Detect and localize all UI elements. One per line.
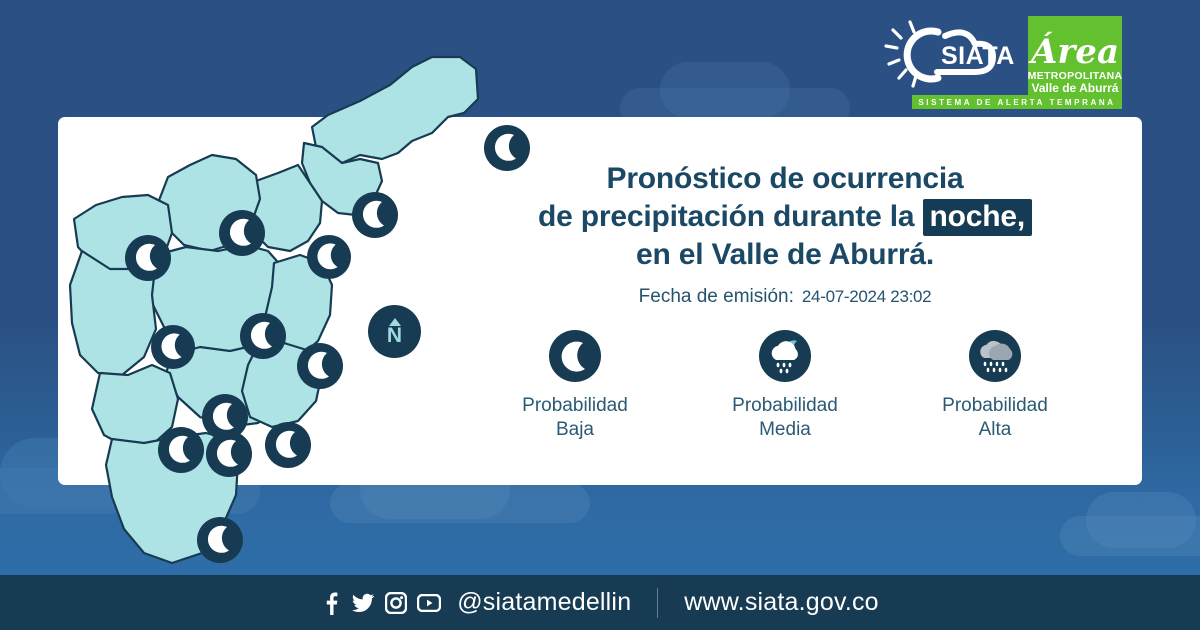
siata-logo: SIATA [883, 16, 1018, 94]
compass-label: N [387, 326, 402, 346]
legend-item-media: Probabilidad Media [700, 330, 870, 443]
title-line-2: de precipitación durante la noche, [470, 198, 1100, 236]
title-block: Pronóstico de ocurrencia de precipitació… [470, 160, 1100, 308]
municipality-barbosa [312, 57, 478, 163]
footer-bar: @siatamedellin www.siata.gov.co [0, 575, 1200, 630]
legend-item-alta: Probabilidad Alta [910, 330, 1080, 443]
legend-label-baja: Probabilidad Baja [522, 394, 628, 443]
area-logo-script: Área [1031, 35, 1119, 69]
title-line-1: Pronóstico de ocurrencia [470, 160, 1100, 198]
facebook-icon[interactable] [321, 591, 341, 615]
north-arrow-icon: N [368, 305, 421, 358]
twitter-icon[interactable] [351, 591, 375, 615]
social-icons [321, 591, 441, 615]
moon-icon [549, 330, 601, 382]
title-highlight-noche: noche, [923, 199, 1032, 236]
valle-de-aburra-map: N [60, 55, 480, 567]
infographic-canvas: SIATA Área METROPOLITANA Valle de Aburrá… [0, 0, 1200, 630]
map-marker-copacabana[interactable] [307, 235, 351, 279]
map-marker-sabaneta[interactable] [158, 427, 204, 473]
map-marker-girardota[interactable] [352, 192, 398, 238]
map-marker-barbosa[interactable] [484, 125, 530, 171]
map-marker-san-pedro[interactable] [219, 210, 265, 256]
area-logo-line2: Valle de Aburrá [1032, 82, 1119, 96]
legend-item-baja: Probabilidad Baja [490, 330, 660, 443]
website-url[interactable]: www.siata.gov.co [684, 588, 878, 617]
legend-label-media: Probabilidad Media [732, 394, 838, 443]
title-line-3: en el Valle de Aburrá. [470, 236, 1100, 274]
emission-date-row: Fecha de emisión: 24-07-2024 23:02 [470, 286, 1100, 308]
legend-label-alta-l2: Alta [979, 419, 1012, 440]
title-line-2-text: de precipitación durante la [538, 200, 914, 233]
map-marker-bello[interactable] [151, 325, 195, 369]
legend-label-baja-l2: Baja [556, 419, 594, 440]
emission-date-value: 24-07-2024 23:02 [802, 287, 931, 307]
tagline-banner: SISTEMA DE ALERTA TEMPRANA [912, 95, 1122, 109]
legend-label-baja-l1: Probabilidad [522, 395, 628, 416]
social-handle[interactable]: @siatamedellin [457, 588, 631, 617]
svg-text:SIATA: SIATA [941, 42, 1015, 70]
map-marker-bello-norte[interactable] [125, 235, 171, 281]
legend-label-media-l2: Media [759, 419, 811, 440]
youtube-icon[interactable] [417, 594, 441, 612]
logo-group: SIATA Área METROPOLITANA Valle de Aburrá [883, 16, 1122, 100]
cloud-heavy-rain-icon [969, 330, 1021, 382]
area-metropolitana-logo: Área METROPOLITANA Valle de Aburrá [1028, 16, 1122, 100]
tagline-text: SISTEMA DE ALERTA TEMPRANA [918, 98, 1115, 107]
legend-label-media-l1: Probabilidad [732, 395, 838, 416]
footer-divider [657, 588, 658, 618]
emission-date-label: Fecha de emisión: [639, 286, 794, 308]
map-marker-caldas[interactable] [197, 517, 243, 563]
probability-legend: Probabilidad Baja [470, 330, 1100, 443]
map-marker-medellin[interactable] [240, 313, 286, 359]
map-marker-caldas-norte[interactable] [265, 422, 311, 468]
cloud-moon-rain-icon [759, 330, 811, 382]
legend-label-alta: Probabilidad Alta [942, 394, 1048, 443]
map-marker-envigado[interactable] [297, 343, 343, 389]
legend-label-alta-l1: Probabilidad [942, 395, 1048, 416]
map-marker-la-estrella[interactable] [206, 431, 252, 477]
instagram-icon[interactable] [385, 592, 407, 614]
